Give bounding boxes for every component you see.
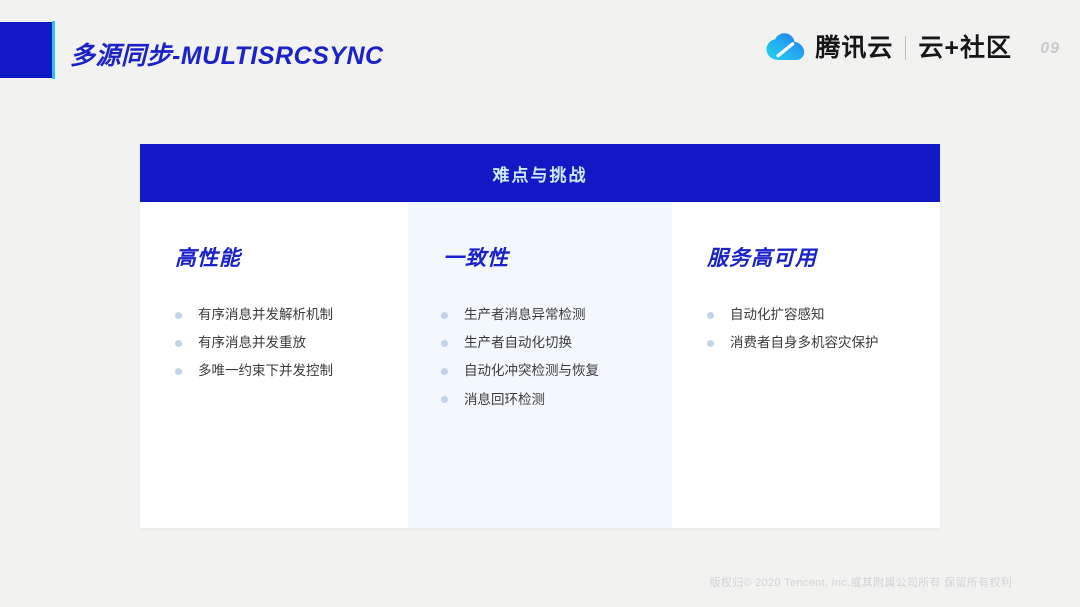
corner-accent-stripe: [52, 21, 55, 79]
column-high-performance: 高性能 有序消息并发解析机制 有序消息并发重放 多唯一约束下并发控制: [140, 202, 408, 528]
list-item-label: 消息回环检测: [464, 392, 545, 408]
challenges-card: 难点与挑战 高性能 有序消息并发解析机制 有序消息并发重放 多唯一约束下并发控制: [140, 144, 940, 528]
column-service-availability: 服务高可用 自动化扩容感知 消费者自身多机容灾保护: [672, 202, 940, 528]
list-item: 生产者自动化切换: [408, 335, 672, 351]
list-item: 多唯一约束下并发控制: [140, 363, 408, 379]
bullet-dot-icon: [175, 368, 182, 375]
list-item-label: 生产者消息异常检测: [464, 307, 586, 323]
card-banner: 难点与挑战: [140, 144, 940, 202]
list-item-label: 消费者自身多机容灾保护: [730, 335, 879, 351]
bullet-dot-icon: [441, 340, 448, 347]
corner-block-decoration: [0, 22, 52, 78]
list-item: 有序消息并发重放: [140, 335, 408, 351]
list-item-label: 生产者自动化切换: [464, 335, 572, 351]
copyright-notice: 版权归© 2020 Tencent, Inc.或其附属公司所有 保留所有权利: [709, 574, 1012, 590]
brand-subname: 云+社区: [918, 36, 1012, 61]
bullet-dot-icon: [441, 396, 448, 403]
bullet-dot-icon: [441, 368, 448, 375]
brand-name: 腾讯云: [815, 36, 893, 61]
bullet-dot-icon: [707, 340, 714, 347]
bullet-dot-icon: [707, 312, 714, 319]
list-item: 消费者自身多机容灾保护: [672, 335, 940, 351]
list-item-label: 有序消息并发重放: [198, 335, 306, 351]
list-item: 自动化冲突检测与恢复: [408, 363, 672, 379]
card-banner-title: 难点与挑战: [493, 161, 588, 186]
brand-lockup: 腾讯云 云+社区: [766, 29, 1012, 67]
bullet-dot-icon: [175, 312, 182, 319]
list-item-label: 自动化冲突检测与恢复: [464, 363, 599, 379]
column-heading: 高性能: [175, 248, 408, 269]
brand-separator: [905, 36, 906, 60]
page-title: 多源同步-MULTISRCSYNC: [70, 36, 384, 72]
bullet-list: 自动化扩容感知 消费者自身多机容灾保护: [672, 307, 940, 351]
bullet-dot-icon: [175, 340, 182, 347]
bullet-list: 有序消息并发解析机制 有序消息并发重放 多唯一约束下并发控制: [140, 307, 408, 380]
list-item-label: 多唯一约束下并发控制: [198, 363, 333, 379]
page-number: 09: [1040, 40, 1060, 58]
tencent-cloud-icon: [766, 33, 806, 63]
list-item: 消息回环检测: [408, 392, 672, 408]
slide-header: 多源同步-MULTISRCSYNC 腾讯云 云+社区 09: [0, 0, 1080, 105]
column-heading: 一致性: [443, 248, 672, 269]
list-item-label: 自动化扩容感知: [730, 307, 825, 323]
list-item-label: 有序消息并发解析机制: [198, 307, 333, 323]
bullet-list: 生产者消息异常检测 生产者自动化切换 自动化冲突检测与恢复 消息回环检测: [408, 307, 672, 408]
list-item: 生产者消息异常检测: [408, 307, 672, 323]
list-item: 自动化扩容感知: [672, 307, 940, 323]
bullet-dot-icon: [441, 312, 448, 319]
list-item: 有序消息并发解析机制: [140, 307, 408, 323]
column-consistency: 一致性 生产者消息异常检测 生产者自动化切换 自动化冲突检测与恢复 消息回环检测: [408, 202, 672, 528]
card-columns: 高性能 有序消息并发解析机制 有序消息并发重放 多唯一约束下并发控制 一致性: [140, 202, 940, 528]
column-heading: 服务高可用: [707, 248, 940, 269]
